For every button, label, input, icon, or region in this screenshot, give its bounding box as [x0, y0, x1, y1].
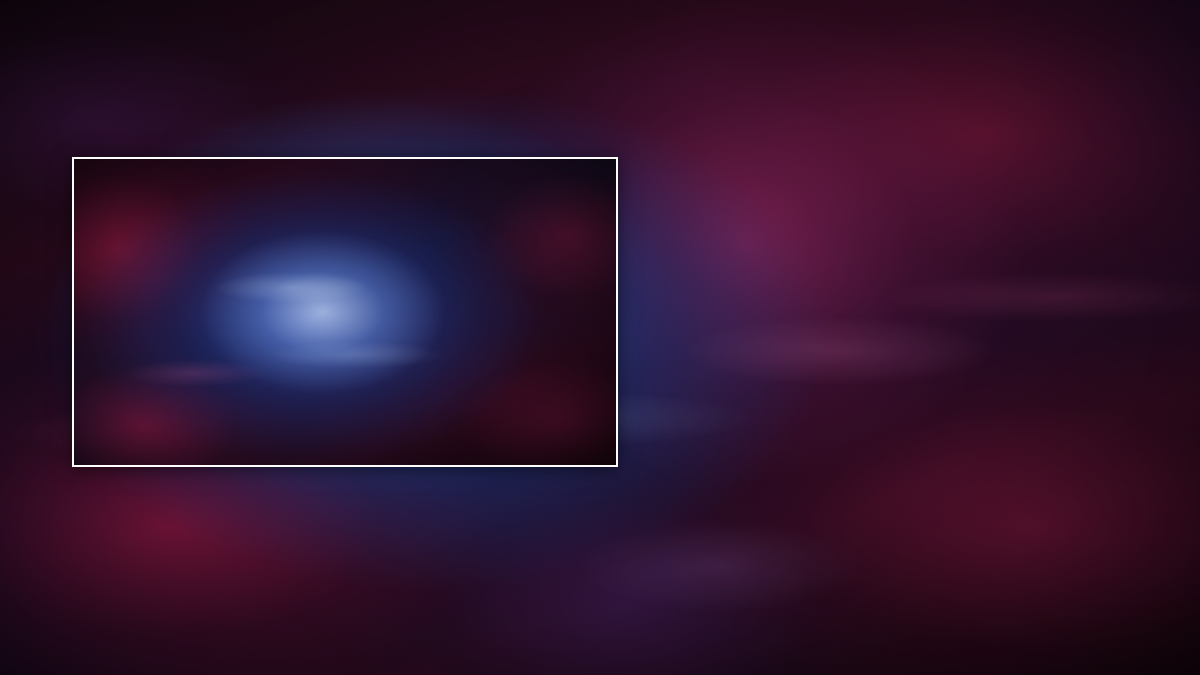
photo-inner — [74, 159, 616, 465]
presentation-slide — [0, 0, 1200, 675]
photo-vignette — [74, 159, 616, 465]
photo-frame — [72, 157, 618, 467]
